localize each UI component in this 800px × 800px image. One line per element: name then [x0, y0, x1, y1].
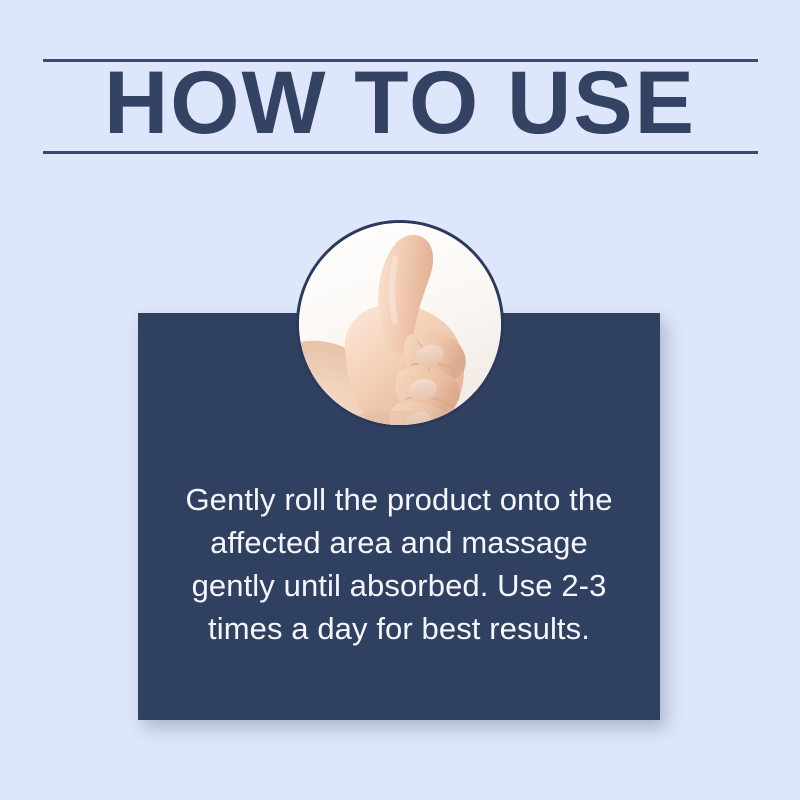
page-title: HOW TO USE	[0, 56, 800, 148]
poster-canvas: HOW TO USE	[0, 0, 800, 800]
thumbs-up-hand-photo	[296, 220, 504, 428]
instruction-text: Gently roll the product onto the affecte…	[138, 478, 660, 650]
thumbs-up-icon	[299, 223, 501, 425]
